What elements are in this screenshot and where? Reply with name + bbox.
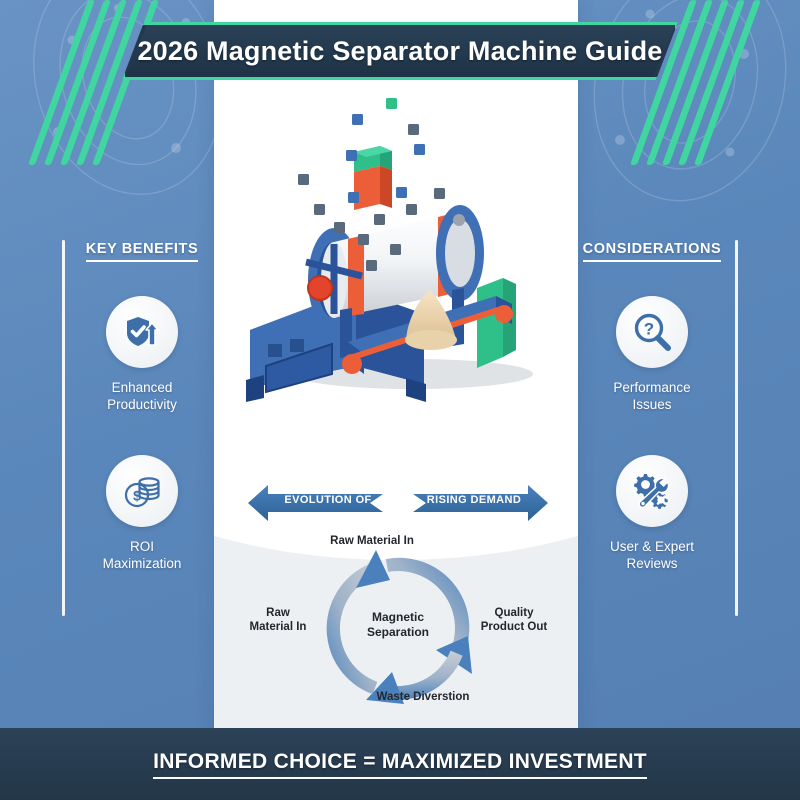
- coin-stack-dollar-icon: $: [106, 455, 178, 527]
- consideration-item-user-expert-reviews[interactable]: User & Expert Reviews: [572, 455, 732, 572]
- consideration-label-line2: Issues: [632, 397, 671, 412]
- cycle-label-bottom: Waste Diverstion: [358, 690, 488, 704]
- benefit-item-roi-maximization[interactable]: $ ROI Maximization: [62, 455, 222, 572]
- rising-demand-arrow-label: RISING DEMAND: [424, 494, 524, 506]
- cycle-label-left: Raw Material In: [240, 606, 316, 634]
- cycle-label-right: Quality Product Out: [476, 606, 552, 634]
- benefit-label: Enhanced Productivity: [62, 379, 222, 413]
- trend-arrow-band: EVOLUTION OF RISING DEMAND: [248, 483, 548, 523]
- svg-text:?: ?: [644, 320, 654, 339]
- cycle-label-left-line1: Raw: [266, 607, 290, 619]
- right-column: CONSIDERATIONS ? Performance Issues: [572, 240, 732, 572]
- benefit-label-line2: Maximization: [103, 556, 182, 571]
- cycle-center-label: Magnetic Separation: [358, 610, 438, 640]
- cycle-center-line2: Separation: [367, 625, 429, 639]
- cycle-diagram: Magnetic Separation Raw Material In Qual…: [248, 528, 548, 728]
- page-title: 2026 Magnetic Separator Machine Guide: [122, 22, 678, 80]
- benefit-label-line1: Enhanced: [112, 380, 173, 395]
- footer-tagline: INFORMED CHOICE = MAXIMIZED INVESTMENT: [153, 750, 647, 779]
- left-column: KEY BENEFITS Enhanced Productivity: [62, 240, 222, 572]
- benefit-label: ROI Maximization: [62, 538, 222, 572]
- magnifier-question-icon: ?: [616, 296, 688, 368]
- bottom-banner: INFORMED CHOICE = MAXIMIZED INVESTMENT: [0, 728, 800, 800]
- benefit-label-line2: Productivity: [107, 397, 177, 412]
- magnet-bar: [354, 146, 392, 210]
- cycle-label-left-line2: Material In: [250, 621, 307, 633]
- benefit-item-enhanced-productivity[interactable]: Enhanced Productivity: [62, 296, 222, 413]
- cycle-label-right-line1: Quality: [495, 607, 534, 619]
- green-stripes-right: [660, 0, 790, 170]
- cycle-center-line1: Magnetic: [372, 610, 424, 624]
- title-banner: 2026 Magnetic Separator Machine Guide: [122, 22, 678, 80]
- consideration-item-performance-issues[interactable]: ? Performance Issues: [572, 296, 732, 413]
- shield-check-arrow-icon: [106, 296, 178, 368]
- consideration-label: User & Expert Reviews: [572, 538, 732, 572]
- infographic-canvas: 2026 Magnetic Separator Machine Guide KE…: [0, 0, 800, 800]
- consideration-label: Performance Issues: [572, 379, 732, 413]
- magnetic-separator-machine-illustration: [228, 92, 564, 402]
- gear-wrench-icon: [616, 455, 688, 527]
- consideration-label-line1: Performance: [613, 380, 690, 395]
- right-column-heading: CONSIDERATIONS: [583, 241, 722, 262]
- svg-text:$: $: [133, 488, 141, 504]
- left-column-heading: KEY BENEFITS: [86, 241, 198, 262]
- benefit-label-line1: ROI: [130, 539, 154, 554]
- right-column-divider: [735, 240, 738, 616]
- evolution-arrow-label: EVOLUTION OF: [282, 494, 374, 506]
- cycle-label-right-line2: Product Out: [481, 621, 547, 633]
- cycle-label-top: Raw Material In: [302, 534, 442, 548]
- consideration-label-line2: Reviews: [626, 556, 677, 571]
- consideration-label-line1: User & Expert: [610, 539, 694, 554]
